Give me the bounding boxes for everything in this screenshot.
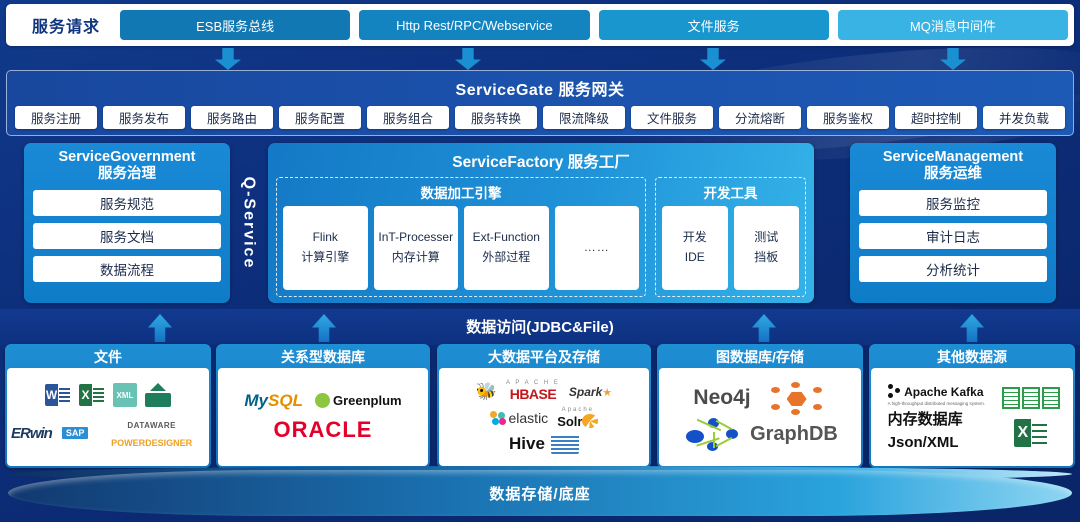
gate-item-service-transform[interactable]: 服务转换 bbox=[455, 106, 537, 129]
down-arrow-2 bbox=[455, 48, 481, 70]
devtool-card-mock[interactable]: 测试 挡板 bbox=[734, 206, 800, 290]
management-row-monitor[interactable]: 服务监控 bbox=[859, 190, 1047, 216]
engine-card-ext-line1: Ext-Function bbox=[473, 228, 540, 248]
gate-item-file-service[interactable]: 文件服务 bbox=[631, 106, 713, 129]
devtool-card-ide-line2: IDE bbox=[685, 248, 705, 268]
management-row-analytics[interactable]: 分析统计 bbox=[859, 256, 1047, 282]
service-factory-panel: ServiceFactory 服务工厂 数据加工引擎 Flink 计算引擎 In… bbox=[268, 143, 814, 303]
green-upload-icon bbox=[145, 383, 171, 407]
hbase-logo: A P A C H E HBASE bbox=[506, 380, 560, 404]
source-title-rdbms: 关系型数据库 bbox=[218, 346, 428, 368]
excel-icon-2: X bbox=[1014, 419, 1048, 447]
memory-db-label: 内存数据库 bbox=[888, 410, 963, 430]
excel-icon: X bbox=[79, 384, 105, 406]
source-title-others: 其他数据源 bbox=[871, 346, 1073, 368]
dataware-label: DATAWARE bbox=[127, 421, 176, 430]
service-management-title-en: ServiceManagement bbox=[859, 149, 1047, 166]
architecture-diagram: 服务请求 ESB服务总线 Http Rest/RPC/Webservice 文件… bbox=[0, 0, 1080, 522]
source-body-files: W X XML ERwin SAP DATAWARE POWERDESIG bbox=[7, 368, 209, 466]
q-service-label-left: Q-Service bbox=[230, 143, 266, 303]
gate-item-rate-limit[interactable]: 限流降级 bbox=[543, 106, 625, 129]
source-panel-graphdb: 图数据库/存储 Neo4j bbox=[657, 344, 863, 468]
gate-item-timeout-control[interactable]: 超时控制 bbox=[895, 106, 977, 129]
graph-nodes-icon bbox=[682, 416, 740, 452]
powerdesigner-label: POWERDESIGNER bbox=[111, 438, 192, 448]
service-management-rows: 服务监控 审计日志 分析统计 bbox=[859, 190, 1047, 282]
q-service-text-left: Q-Service bbox=[239, 177, 257, 270]
engine-card-more[interactable]: …… bbox=[555, 206, 640, 290]
source-body-others: Apache Kafka A high-throughput distribut… bbox=[871, 368, 1073, 466]
source-panel-rdbms: 关系型数据库 MySQL Greenplum ORACLE bbox=[216, 344, 430, 468]
gate-item-concurrency-load[interactable]: 并发负载 bbox=[983, 106, 1065, 129]
engine-cards: Flink 计算引擎 InT-Processer 内存计算 Ext-Functi… bbox=[283, 206, 639, 290]
request-button-mq[interactable]: MQ消息中间件 bbox=[838, 10, 1068, 40]
xml-file-icon: XML bbox=[113, 383, 137, 407]
green-table-icon bbox=[1002, 387, 1060, 409]
service-management-panel: ServiceManagement 服务运维 服务监控 审计日志 分析统计 bbox=[850, 143, 1056, 303]
sap-label: SAP bbox=[66, 428, 85, 438]
devtool-card-mock-line1: 测试 bbox=[754, 228, 778, 248]
down-arrow-4 bbox=[940, 48, 966, 70]
source-title-bigdata: 大数据平台及存储 bbox=[439, 346, 649, 368]
service-governance-title: ServiceGovernment 服务治理 bbox=[33, 149, 221, 183]
service-gate-title: ServiceGate 服务网关 bbox=[7, 76, 1073, 100]
word-icon: W bbox=[45, 384, 71, 406]
engine-card-ext-function[interactable]: Ext-Function 外部过程 bbox=[464, 206, 549, 290]
engine-card-int-line1: InT-Processer bbox=[378, 228, 453, 248]
gate-item-service-register[interactable]: 服务注册 bbox=[15, 106, 97, 129]
dev-tool-cards: 开发 IDE 测试 挡板 bbox=[662, 206, 799, 290]
mysql-logo: MySQL bbox=[244, 391, 303, 411]
solr-apache-label: Apache bbox=[557, 407, 598, 413]
data-sources-row: 文件 W X XML ERwin SAP bbox=[0, 344, 1080, 470]
elastic-logo: elastic bbox=[490, 410, 549, 428]
service-gate-items: 服务注册 服务发布 服务路由 服务配置 服务组合 服务转换 限流降级 文件服务 … bbox=[7, 100, 1073, 129]
management-row-audit-log[interactable]: 审计日志 bbox=[859, 223, 1047, 249]
governance-row-doc[interactable]: 服务文档 bbox=[33, 223, 221, 249]
engine-card-flink[interactable]: Flink 计算引擎 bbox=[283, 206, 368, 290]
gate-item-service-auth[interactable]: 服务鉴权 bbox=[807, 106, 889, 129]
storage-base-label: 数据存储/底座 bbox=[0, 483, 1080, 504]
request-button-file[interactable]: 文件服务 bbox=[599, 10, 829, 40]
service-management-title-cn: 服务运维 bbox=[859, 166, 1047, 183]
gate-item-service-route[interactable]: 服务路由 bbox=[191, 106, 273, 129]
service-factory-groups: 数据加工引擎 Flink 计算引擎 InT-Processer 内存计算 Ext… bbox=[276, 177, 806, 297]
greenplum-logo: Greenplum bbox=[315, 392, 402, 410]
hive-doc-icon bbox=[551, 434, 579, 454]
down-arrow-3 bbox=[700, 48, 726, 70]
source-body-graphdb: Neo4j bbox=[659, 368, 861, 466]
neo4j-label: Neo4j bbox=[693, 386, 750, 410]
service-factory-title: ServiceFactory 服务工厂 bbox=[276, 150, 806, 172]
spark-logo: Spark★ bbox=[569, 383, 612, 401]
source-title-graphdb: 图数据库/存储 bbox=[659, 346, 861, 368]
dev-tools-group: 开发工具 开发 IDE 测试 挡板 bbox=[655, 177, 806, 297]
engine-card-flink-line1: Flink bbox=[313, 228, 338, 248]
service-request-buttons: ESB服务总线 Http Rest/RPC/Webservice 文件服务 MQ… bbox=[120, 10, 1068, 40]
erwin-logo: ERwin bbox=[11, 425, 52, 442]
json-xml-label: Json/XML bbox=[888, 434, 959, 451]
service-management-title: ServiceManagement 服务运维 bbox=[859, 149, 1047, 183]
oracle-label: ORACLE bbox=[274, 417, 373, 442]
data-access-band: 数据访问(JDBC&File) bbox=[0, 309, 1080, 345]
service-governance-title-cn: 服务治理 bbox=[33, 166, 221, 183]
spark-label: Spark bbox=[569, 385, 602, 399]
devtool-card-ide[interactable]: 开发 IDE bbox=[662, 206, 728, 290]
devtool-card-mock-line2: 挡板 bbox=[754, 248, 778, 268]
solr-label: Solr bbox=[557, 414, 582, 429]
source-body-bigdata: 🐝 A P A C H E HBASE Spark★ elastic Apach… bbox=[439, 368, 649, 466]
gate-item-service-config[interactable]: 服务配置 bbox=[279, 106, 361, 129]
sap-logo: SAP bbox=[62, 427, 89, 439]
dev-tools-title: 开发工具 bbox=[662, 182, 799, 202]
devtool-card-ide-line1: 开发 bbox=[683, 228, 707, 248]
hbase-label: HBASE bbox=[510, 386, 557, 402]
service-governance-rows: 服务规范 服务文档 数据流程 bbox=[33, 190, 221, 282]
hive-bee-logo: 🐝 bbox=[476, 382, 497, 402]
service-request-bar: 服务请求 ESB服务总线 Http Rest/RPC/Webservice 文件… bbox=[6, 4, 1074, 46]
powerdesigner-logo: DATAWARE POWERDESIGNER bbox=[98, 415, 205, 451]
mysql-sql-label: SQL bbox=[268, 391, 303, 410]
source-title-files: 文件 bbox=[7, 346, 209, 368]
engine-card-more-label: …… bbox=[584, 238, 610, 258]
elastic-label: elastic bbox=[509, 410, 549, 426]
kafka-logo: Apache Kafka A high-throughput distribut… bbox=[888, 383, 985, 406]
gate-item-service-compose[interactable]: 服务组合 bbox=[367, 106, 449, 129]
service-request-label: 服务请求 bbox=[12, 13, 120, 37]
engine-card-int-line2: 内存计算 bbox=[392, 248, 440, 268]
hive-label: Hive bbox=[509, 434, 545, 454]
gate-item-circuit-breaker[interactable]: 分流熔断 bbox=[719, 106, 801, 129]
kafka-label: Apache Kafka bbox=[904, 385, 983, 399]
source-body-rdbms: MySQL Greenplum ORACLE bbox=[218, 368, 428, 466]
service-governance-panel: ServiceGovernment 服务治理 服务规范 服务文档 数据流程 bbox=[24, 143, 230, 303]
greenplum-label: Greenplum bbox=[333, 393, 402, 408]
data-processing-engine-group: 数据加工引擎 Flink 计算引擎 InT-Processer 内存计算 Ext… bbox=[276, 177, 646, 297]
governance-row-dataflow[interactable]: 数据流程 bbox=[33, 256, 221, 282]
data-processing-engine-title: 数据加工引擎 bbox=[283, 182, 639, 202]
solr-logo: Apache Solr bbox=[557, 407, 598, 431]
middle-band: ServiceGovernment 服务治理 服务规范 服务文档 数据流程 Q-… bbox=[6, 141, 1074, 308]
down-arrow-1 bbox=[215, 48, 241, 70]
erwin-label: ERwin bbox=[11, 425, 52, 442]
source-panel-bigdata: 大数据平台及存储 🐝 A P A C H E HBASE Spark★ elas… bbox=[437, 344, 651, 468]
request-button-http[interactable]: Http Rest/RPC/Webservice bbox=[359, 10, 589, 40]
oracle-logo: ORACLE bbox=[274, 417, 373, 443]
source-panel-others: 其他数据源 Apache Kafka A high-throughput dis… bbox=[869, 344, 1075, 468]
governance-row-spec[interactable]: 服务规范 bbox=[33, 190, 221, 216]
service-gate-panel: ServiceGate 服务网关 服务注册 服务发布 服务路由 服务配置 服务组… bbox=[6, 70, 1074, 136]
gate-item-service-publish[interactable]: 服务发布 bbox=[103, 106, 185, 129]
graphdb-label: GraphDB bbox=[750, 423, 838, 446]
request-button-esb[interactable]: ESB服务总线 bbox=[120, 10, 350, 40]
xml-file-label: XML bbox=[117, 391, 134, 400]
source-panel-files: 文件 W X XML ERwin SAP bbox=[5, 344, 211, 468]
service-governance-title-en: ServiceGovernment bbox=[33, 149, 221, 166]
engine-card-ext-line2: 外部过程 bbox=[482, 248, 530, 268]
engine-card-int-processer[interactable]: InT-Processer 内存计算 bbox=[374, 206, 459, 290]
kafka-tagline: A high-throughput distributed messaging … bbox=[888, 401, 985, 406]
orange-hex-icon bbox=[765, 382, 827, 414]
mysql-my-label: My bbox=[244, 391, 268, 410]
engine-card-flink-line2: 计算引擎 bbox=[301, 248, 349, 268]
